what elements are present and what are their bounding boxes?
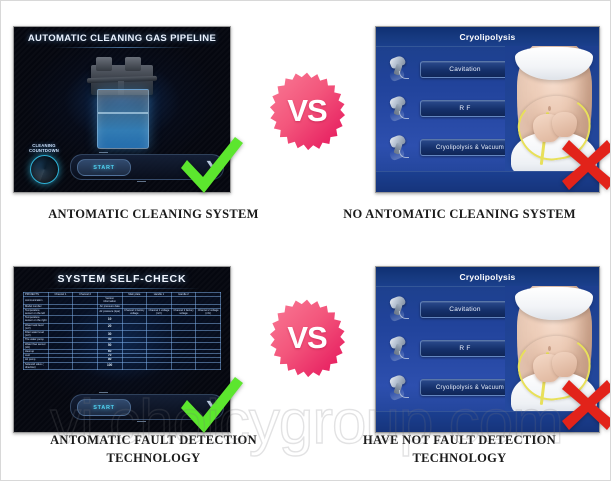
slider-tick-lower bbox=[137, 421, 146, 422]
table-cell bbox=[73, 342, 98, 349]
table-row: Solenoid valve ( direction)100 bbox=[24, 362, 221, 369]
comparison-row-cleaning-system: AUTOMATIC CLEANING GAS PIPELINE CLEANING… bbox=[1, 1, 611, 241]
table-cell: communication bbox=[24, 297, 49, 304]
table-cell bbox=[73, 316, 98, 323]
table-cell bbox=[73, 297, 98, 304]
vs-badge-top: VS bbox=[267, 71, 347, 151]
table-cell bbox=[48, 323, 73, 330]
table-cell: Air pressure data bbox=[97, 304, 122, 308]
table-cell: Temperature sensor on the left bbox=[24, 308, 49, 315]
table-cell: 100 bbox=[97, 362, 122, 369]
comparison-row-fault-detection: SYSTEM SELF-CHECK PROJECTSChannel 1Chann… bbox=[1, 241, 611, 481]
table-cell bbox=[48, 331, 73, 338]
table-cell: 30 bbox=[97, 331, 122, 338]
comparison-page: AUTOMATIC CLEANING GAS PIPELINE CLEANING… bbox=[0, 0, 611, 481]
table-cell bbox=[196, 362, 221, 369]
slider-tick-upper bbox=[99, 152, 108, 153]
table-cell bbox=[73, 308, 98, 315]
self-check-title: SYSTEM SELF-CHECK bbox=[14, 273, 230, 285]
table-row: Water flow sensor (Hz)50 bbox=[24, 342, 221, 349]
cryo-title: Cryolipolysis bbox=[460, 272, 516, 282]
table-cell bbox=[196, 342, 221, 349]
table-cell bbox=[196, 331, 221, 338]
table-cell: Water flow sensor (Hz) bbox=[24, 342, 49, 349]
table-cell bbox=[171, 323, 196, 330]
self-check-table: PROJECTSChannel 1Channel 2Main plateHand… bbox=[23, 292, 221, 370]
table-cell: 10 bbox=[97, 316, 122, 323]
table-cell: Channel 2 voltage (mV) bbox=[196, 308, 221, 315]
caption-right-bottom-line1: HAVE NOT FAULT DETECTION bbox=[307, 431, 611, 449]
table-cell bbox=[147, 316, 172, 323]
table-cell bbox=[196, 323, 221, 330]
table-cell: Channel 1 voltage (mV) bbox=[147, 308, 172, 315]
start-button[interactable]: START bbox=[77, 159, 131, 176]
screen-cryolipolysis-top[interactable]: Cryolipolysis Cavitation bbox=[375, 26, 600, 193]
vs-badge-bottom: VS bbox=[267, 298, 347, 378]
caption-left-bottom-line2: TECHNOLOGY bbox=[1, 449, 306, 467]
comparison-cell-right-cleaning: Cryolipolysis Cavitation bbox=[307, 1, 611, 241]
cryo-mode-row-rf[interactable]: R F bbox=[376, 88, 510, 130]
caption-left-top: ANTOMATIC CLEANING SYSTEM bbox=[1, 205, 306, 223]
handpiece-icon-cavitation bbox=[382, 53, 416, 85]
comparison-cell-left-cleaning: AUTOMATIC CLEANING GAS PIPELINE CLEANING… bbox=[1, 1, 306, 241]
table-cell bbox=[48, 297, 73, 304]
cryo-mode-row-cryo-vacuum[interactable]: Cryolipolysis & Vacuum bbox=[376, 367, 510, 409]
table-row: Filter water level (mV)30 bbox=[24, 331, 221, 338]
table-cell bbox=[122, 323, 147, 330]
table-cell bbox=[171, 342, 196, 349]
next-arrow-icon[interactable]: ❯ bbox=[205, 400, 216, 413]
cryo-button-cavitation[interactable]: Cavitation bbox=[420, 301, 510, 318]
table-cell: Filter water level (mV) bbox=[24, 331, 49, 338]
handpiece-icon-cryo-vacuum bbox=[382, 132, 416, 164]
table-cell: Temperature sensor on the right bbox=[24, 316, 49, 323]
countdown-label: CLEANINGCOUNTDOWN bbox=[22, 143, 66, 153]
cryo-title: Cryolipolysis bbox=[460, 32, 516, 42]
table-cell bbox=[147, 323, 172, 330]
table-cell bbox=[147, 297, 172, 304]
table-cell bbox=[171, 362, 196, 369]
table-cell: Air pressure (kpa) bbox=[97, 308, 122, 315]
table-cell bbox=[122, 362, 147, 369]
table-cell bbox=[196, 297, 221, 304]
table-cell bbox=[122, 316, 147, 323]
table-cell: Version information bbox=[97, 297, 122, 304]
table-row: Temperature sensor on the leftAir pressu… bbox=[24, 308, 221, 315]
table-cell bbox=[147, 362, 172, 369]
table-cell: Channel 2 factory voltage bbox=[171, 308, 196, 315]
table-cell: 20 bbox=[97, 323, 122, 330]
table-row: Water tank level (mV)20 bbox=[24, 323, 221, 330]
table-cell: Solenoid valve ( direction) bbox=[24, 362, 49, 369]
table-cell bbox=[147, 331, 172, 338]
cryo-footer bbox=[376, 171, 599, 192]
cryo-body: Cavitation R F Cryolipolys bbox=[376, 286, 599, 412]
vs-label: VS bbox=[267, 71, 347, 151]
screen-automatic-cleaning-gas-pipeline[interactable]: AUTOMATIC CLEANING GAS PIPELINE CLEANING… bbox=[13, 26, 231, 193]
cryo-button-rf[interactable]: R F bbox=[420, 340, 510, 357]
cryo-mode-row-rf[interactable]: R F bbox=[376, 328, 510, 370]
cryo-header: Cryolipolysis bbox=[376, 267, 599, 287]
table-cell bbox=[48, 316, 73, 323]
machine-fluid-tank bbox=[97, 89, 149, 149]
table-cell bbox=[171, 297, 196, 304]
caption-right-bottom-line2: TECHNOLOGY bbox=[307, 449, 611, 467]
cryo-body: Cavitation R F Cryolipolys bbox=[376, 46, 599, 172]
table-cell bbox=[73, 362, 98, 369]
table-cell bbox=[122, 331, 147, 338]
table-cell bbox=[73, 323, 98, 330]
handpiece-icon-rf bbox=[382, 333, 416, 365]
vs-label: VS bbox=[267, 298, 347, 378]
table-cell bbox=[122, 342, 147, 349]
cryo-header: Cryolipolysis bbox=[376, 27, 599, 47]
self-check-title-divider bbox=[44, 288, 200, 289]
countdown-dial bbox=[30, 155, 59, 184]
table-cell bbox=[48, 342, 73, 349]
table-cell: 50 bbox=[97, 342, 122, 349]
cryo-footer bbox=[376, 411, 599, 432]
slider-tick-lower bbox=[137, 181, 146, 182]
screen-title: AUTOMATIC CLEANING GAS PIPELINE bbox=[14, 33, 230, 44]
cryo-mode-row-cavitation[interactable]: Cavitation bbox=[376, 49, 510, 91]
start-button[interactable]: START bbox=[77, 399, 131, 416]
gas-pipeline-machine-illustration bbox=[85, 57, 159, 149]
machine-block-left bbox=[96, 57, 112, 71]
table-cell bbox=[122, 297, 147, 304]
table-cell bbox=[147, 342, 172, 349]
table-cell bbox=[48, 308, 73, 315]
table-cell bbox=[171, 316, 196, 323]
cryo-button-cavitation[interactable]: Cavitation bbox=[420, 61, 510, 78]
handpiece-icon-cavitation bbox=[382, 293, 416, 325]
cryo-mode-row-cavitation[interactable]: Cavitation bbox=[376, 289, 510, 331]
caption-right-top: NO ANTOMATIC CLEANING SYSTEM bbox=[307, 205, 611, 223]
title-divider bbox=[53, 47, 191, 48]
body-photo bbox=[505, 286, 599, 412]
handpiece-icon-rf bbox=[382, 93, 416, 125]
comparison-cell-left-fault: SYSTEM SELF-CHECK PROJECTSChannel 1Chann… bbox=[1, 241, 306, 481]
cryo-button-rf[interactable]: R F bbox=[420, 100, 510, 117]
table-cell bbox=[171, 331, 196, 338]
next-arrow-icon[interactable]: ❯ bbox=[205, 160, 216, 173]
control-bar-self-check[interactable]: START ❯ bbox=[70, 394, 224, 420]
screen-system-self-check[interactable]: SYSTEM SELF-CHECK PROJECTSChannel 1Chann… bbox=[13, 266, 231, 433]
table-row: communicationVersion information bbox=[24, 297, 221, 304]
slider-tick-upper bbox=[99, 392, 108, 393]
cryo-mode-row-cryo-vacuum[interactable]: Cryolipolysis & Vacuum bbox=[376, 127, 510, 169]
machine-block-right bbox=[125, 57, 141, 71]
handpiece-icon-cryo-vacuum bbox=[382, 372, 416, 404]
table-cell: Channel 1 factory voltage bbox=[122, 308, 147, 315]
caption-left-bottom-line1: ANTOMATIC FAULT DETECTION bbox=[1, 431, 306, 449]
table-row: Temperature sensor on the right10 bbox=[24, 316, 221, 323]
table-cell bbox=[73, 331, 98, 338]
cryo-mode-list: Cavitation R F Cryolipolys bbox=[376, 46, 510, 172]
comparison-cell-right-fault: Cryolipolysis Cavitation bbox=[307, 241, 611, 481]
control-bar[interactable]: START ❯ bbox=[70, 154, 224, 180]
cryo-mode-list: Cavitation R F Cryolipolys bbox=[376, 286, 510, 412]
screen-cryolipolysis-bottom[interactable]: Cryolipolysis Cavitation bbox=[375, 266, 600, 433]
table-cell bbox=[196, 316, 221, 323]
table-cell: Water tank level (mV) bbox=[24, 323, 49, 330]
body-photo bbox=[505, 46, 599, 172]
cleaning-countdown-widget: CLEANINGCOUNTDOWN bbox=[22, 143, 66, 184]
table-cell bbox=[48, 362, 73, 369]
